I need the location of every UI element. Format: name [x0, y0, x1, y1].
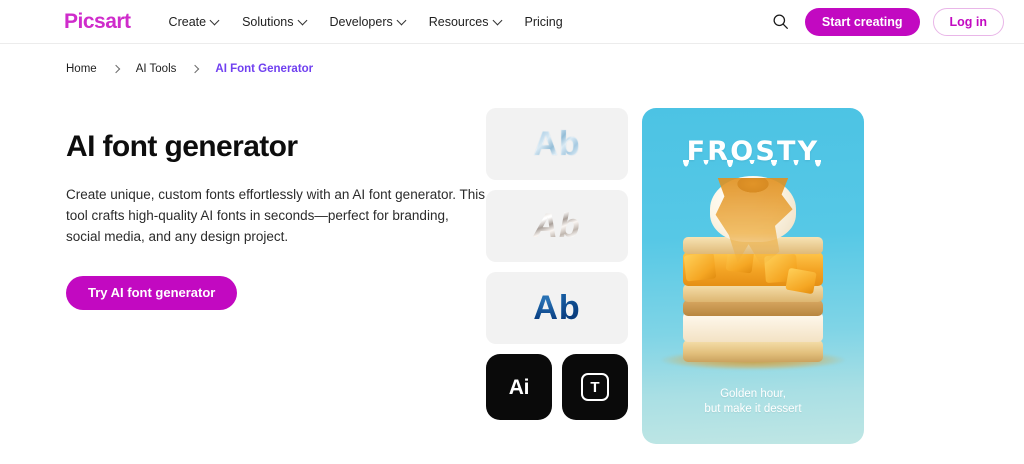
breadcrumb-item-ai-tools[interactable]: AI Tools: [136, 63, 177, 75]
poster-caption-line2: but make it dessert: [642, 402, 864, 418]
search-icon: [772, 13, 789, 30]
font-sample-text: Ab: [533, 209, 580, 243]
main-nav: Create Solutions Developers Resources Pr…: [169, 15, 563, 29]
main-content: AI font generator Create unique, custom …: [0, 80, 1024, 464]
nav-item-create[interactable]: Create: [169, 15, 221, 29]
chevron-right-icon: [192, 66, 199, 73]
ai-label: Ai: [509, 377, 529, 398]
login-button[interactable]: Log in: [933, 8, 1005, 36]
dessert-illustration: [683, 176, 823, 366]
nav-label: Create: [169, 15, 207, 29]
mango-chunk: [785, 268, 816, 295]
font-style-chrome-card[interactable]: Ab: [486, 190, 628, 262]
poster-caption-line1: Golden hour,: [642, 387, 864, 403]
font-sample-text: Ab: [533, 291, 580, 325]
breadcrumb-item-ai-font-generator: AI Font Generator: [215, 63, 313, 75]
font-sample-text: Ab: [533, 127, 580, 161]
font-style-watercolor-card[interactable]: Ab: [486, 272, 628, 344]
font-style-ice-card[interactable]: Ab: [486, 108, 628, 180]
nav-item-resources[interactable]: Resources: [429, 15, 503, 29]
hero-description: Create unique, custom fonts effortlessly…: [66, 185, 486, 248]
font-style-thumbnails: Ab Ab Ab Ai T: [486, 108, 628, 464]
mango-chunk: [684, 253, 717, 282]
crumble-layer: [683, 300, 823, 316]
chevron-down-icon: [494, 16, 503, 25]
chevron-down-icon: [398, 16, 407, 25]
text-tool-tile[interactable]: T: [562, 354, 628, 420]
nav-label: Solutions: [242, 15, 293, 29]
header-actions: Start creating Log in: [770, 8, 1004, 36]
app-tiles-row: Ai T: [486, 354, 628, 420]
nav-item-solutions[interactable]: Solutions: [242, 15, 307, 29]
site-header: Picsart Create Solutions Developers Reso…: [0, 0, 1024, 44]
adobe-illustrator-tile[interactable]: Ai: [486, 354, 552, 420]
hero-text-column: AI font generator Create unique, custom …: [66, 80, 536, 464]
poster-caption: Golden hour, but make it dessert: [642, 387, 864, 418]
poster-title: FROSTY: [642, 138, 864, 165]
nav-label: Pricing: [525, 15, 563, 29]
nav-label: Developers: [330, 15, 393, 29]
chevron-down-icon: [299, 16, 308, 25]
start-creating-button[interactable]: Start creating: [805, 8, 920, 36]
nav-label: Resources: [429, 15, 489, 29]
breadcrumb: Home AI Tools AI Font Generator: [0, 44, 1024, 80]
chevron-right-icon: [113, 66, 120, 73]
text-tool-icon: T: [581, 373, 609, 401]
try-ai-font-generator-button[interactable]: Try AI font generator: [66, 276, 237, 310]
breadcrumb-item-home[interactable]: Home: [66, 63, 97, 75]
picsart-logo[interactable]: Picsart: [64, 11, 131, 32]
chevron-down-icon: [211, 16, 220, 25]
frosty-poster-card[interactable]: FROSTY Golden hour, but make it dessert: [642, 108, 864, 444]
showcase-gallery: Ab Ab Ab Ai T FROSTY: [486, 80, 956, 464]
nav-item-developers[interactable]: Developers: [330, 15, 407, 29]
waffle-layer-bottom: [683, 340, 823, 362]
nav-item-pricing[interactable]: Pricing: [525, 15, 563, 29]
search-button[interactable]: [770, 11, 792, 33]
cream-layer-bottom: [683, 312, 823, 342]
page-title: AI font generator: [66, 130, 536, 163]
